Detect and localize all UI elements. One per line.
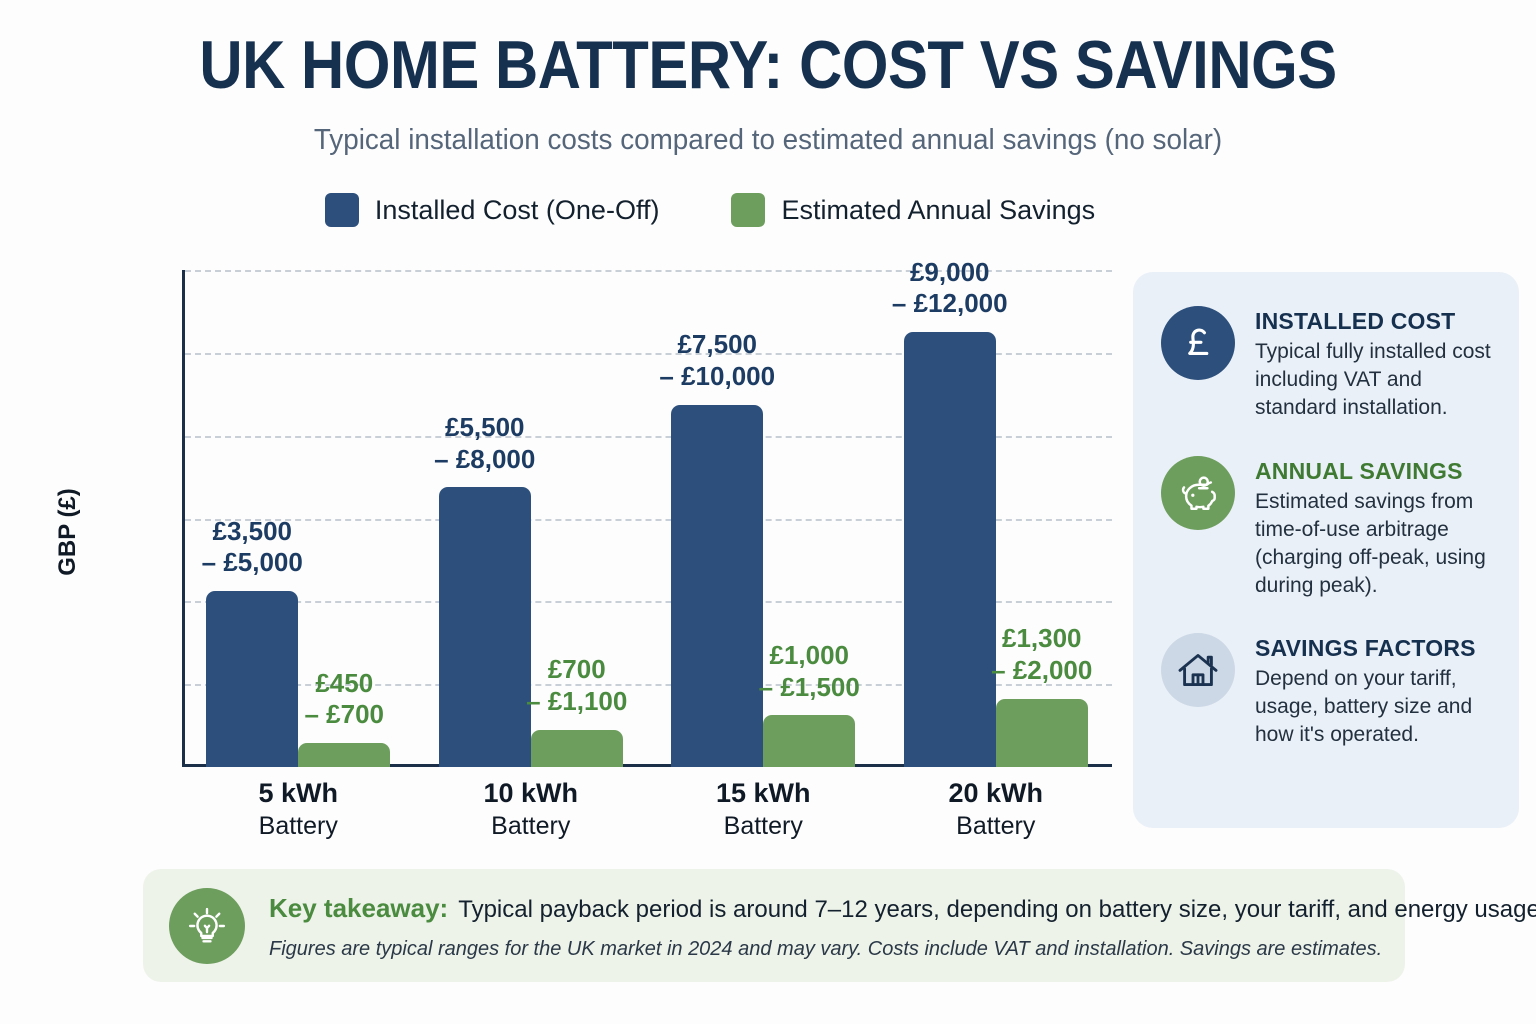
bar-value-line1: £9,000 <box>910 257 990 287</box>
x-axis-label: 5 kWhBattery <box>182 777 415 842</box>
info-card-title: SAVINGS FACTORS <box>1255 635 1491 662</box>
bar-save[interactable] <box>763 715 855 767</box>
bar-value-label: £7,500– £10,000 <box>659 329 775 392</box>
bar-value-label: £9,000– £12,000 <box>892 257 1008 320</box>
bar-groups: £3,500– £5,000£450– £700£5,500– £8,000£7… <box>182 270 1112 767</box>
chart-legend: Installed Cost (One-Off) Estimated Annua… <box>0 193 1420 227</box>
key-takeaway-text: Key takeaway:Typical payback period is a… <box>269 891 1536 961</box>
lightbulb-icon <box>169 888 245 964</box>
house-icon <box>1161 633 1235 707</box>
bar-group: £5,500– £8,000£700– £1,100 <box>415 270 648 767</box>
key-takeaway-label: Key takeaway: <box>269 893 448 923</box>
info-card-savings-factors: SAVINGS FACTORS Depend on your tariff, u… <box>1161 633 1491 749</box>
bar-cost[interactable] <box>671 405 763 767</box>
key-takeaway-line: Key takeaway:Typical payback period is a… <box>269 893 1536 924</box>
x-axis-label: 15 kWhBattery <box>647 777 880 842</box>
key-takeaway-note: Figures are typical ranges for the UK ma… <box>269 938 1536 961</box>
key-takeaway-body: Typical payback period is around 7–12 ye… <box>458 896 1536 923</box>
bar-slot-cost: £5,500– £8,000 <box>439 270 531 767</box>
bar-value-line1: £7,500 <box>677 329 757 359</box>
bar-cost[interactable] <box>904 332 996 767</box>
bar-value-line2: – £1,500 <box>759 672 860 702</box>
bar-cost[interactable] <box>439 487 531 767</box>
info-card-body: Depend on your tariff, usage, battery si… <box>1255 665 1491 749</box>
x-axis-label: 10 kWhBattery <box>415 777 648 842</box>
page-subtitle: Typical installation costs compared to e… <box>31 124 1506 157</box>
page-title: UK HOME BATTERY: COST VS SAVINGS <box>92 26 1444 104</box>
x-axis-labels: 5 kWhBattery10 kWhBattery15 kWhBattery20… <box>182 777 1112 842</box>
bar-save[interactable] <box>531 730 623 767</box>
x-axis-label-battery: Battery <box>415 811 648 842</box>
bar-value-label: £3,500– £5,000 <box>202 516 303 579</box>
x-axis-label-capacity: 10 kWh <box>415 777 648 811</box>
legend-label-installed-cost: Installed Cost (One-Off) <box>375 195 660 226</box>
bar-group: £3,500– £5,000£450– £700 <box>182 270 415 767</box>
bar-value-line1: £1,000 <box>769 640 849 670</box>
bar-slot-save: £700– £1,100 <box>531 270 623 767</box>
info-card-text: ANNUAL SAVINGS Estimated savings from ti… <box>1255 456 1491 600</box>
bar-value-line1: £5,500 <box>445 412 525 442</box>
bar-slot-save: £450– £700 <box>298 270 390 767</box>
bar-value-line2: – £2,000 <box>991 655 1092 685</box>
bar-value-line2: – £5,000 <box>202 547 303 577</box>
info-card-text: INSTALLED COST Typical fully installed c… <box>1255 306 1491 422</box>
bar-slot-cost: £7,500– £10,000 <box>671 270 763 767</box>
bar-value-line1: £3,500 <box>212 516 292 546</box>
x-axis-label-capacity: 15 kWh <box>647 777 880 811</box>
bar-value-line2: – £10,000 <box>659 361 775 391</box>
pound-sterling-icon <box>1161 306 1235 380</box>
info-card-title: INSTALLED COST <box>1255 308 1491 335</box>
legend-swatch-installed-cost <box>325 193 359 227</box>
info-card-annual-savings: ANNUAL SAVINGS Estimated savings from ti… <box>1161 456 1491 600</box>
bar-save[interactable] <box>996 699 1088 767</box>
infographic-root: UK HOME BATTERY: COST VS SAVINGS Typical… <box>0 0 1536 1024</box>
info-card-title: ANNUAL SAVINGS <box>1255 458 1491 485</box>
bar-value-label: £1,000– £1,500 <box>759 640 860 703</box>
bar-slot-cost: £3,500– £5,000 <box>206 270 298 767</box>
bar-value-line2: – £8,000 <box>434 444 535 474</box>
y-axis-title: GBP (£) <box>54 452 82 612</box>
legend-swatch-annual-savings <box>731 193 765 227</box>
bar-value-line2: – £700 <box>304 699 384 729</box>
bar-value-line2: – £12,000 <box>892 288 1008 318</box>
bar-slot-cost: £9,000– £12,000 <box>904 270 996 767</box>
bar-value-line2: – £1,100 <box>526 686 627 716</box>
key-takeaway-box: Key takeaway:Typical payback period is a… <box>143 869 1405 982</box>
bar-group: £9,000– £12,000£1,300– £2,000 <box>880 270 1113 767</box>
x-axis-label-capacity: 5 kWh <box>182 777 415 811</box>
info-card-body: Typical fully installed cost including V… <box>1255 338 1491 422</box>
bar-cost[interactable] <box>206 591 298 767</box>
x-axis-label-capacity: 20 kWh <box>880 777 1113 811</box>
bar-value-label: £450– £700 <box>304 668 384 731</box>
x-axis-label-battery: Battery <box>647 811 880 842</box>
bar-slot-save: £1,000– £1,500 <box>763 270 855 767</box>
x-axis-label-battery: Battery <box>182 811 415 842</box>
bar-value-label: £1,300– £2,000 <box>991 623 1092 686</box>
piggy-bank-icon <box>1161 456 1235 530</box>
legend-item-annual-savings: Estimated Annual Savings <box>731 193 1095 227</box>
bar-value-label: £5,500– £8,000 <box>434 412 535 475</box>
bar-value-line1: £1,300 <box>1002 623 1082 653</box>
info-card-body: Estimated savings from time-of-use arbit… <box>1255 488 1491 600</box>
info-card-installed-cost: INSTALLED COST Typical fully installed c… <box>1161 306 1491 422</box>
legend-label-annual-savings: Estimated Annual Savings <box>781 195 1095 226</box>
bar-save[interactable] <box>298 743 390 767</box>
bar-group: £7,500– £10,000£1,000– £1,500 <box>647 270 880 767</box>
x-axis-label: 20 kWhBattery <box>880 777 1113 842</box>
info-side-panel: INSTALLED COST Typical fully installed c… <box>1133 272 1519 828</box>
bar-chart: GBP (£) £0£2,000£4,000£6,000£8,000£10,00… <box>0 250 1120 850</box>
bar-value-line1: £450 <box>315 668 373 698</box>
bar-value-label: £700– £1,100 <box>526 654 627 717</box>
bar-slot-save: £1,300– £2,000 <box>996 270 1088 767</box>
x-axis-label-battery: Battery <box>880 811 1113 842</box>
bar-value-line1: £700 <box>548 654 606 684</box>
legend-item-installed-cost: Installed Cost (One-Off) <box>325 193 660 227</box>
info-card-text: SAVINGS FACTORS Depend on your tariff, u… <box>1255 633 1491 749</box>
